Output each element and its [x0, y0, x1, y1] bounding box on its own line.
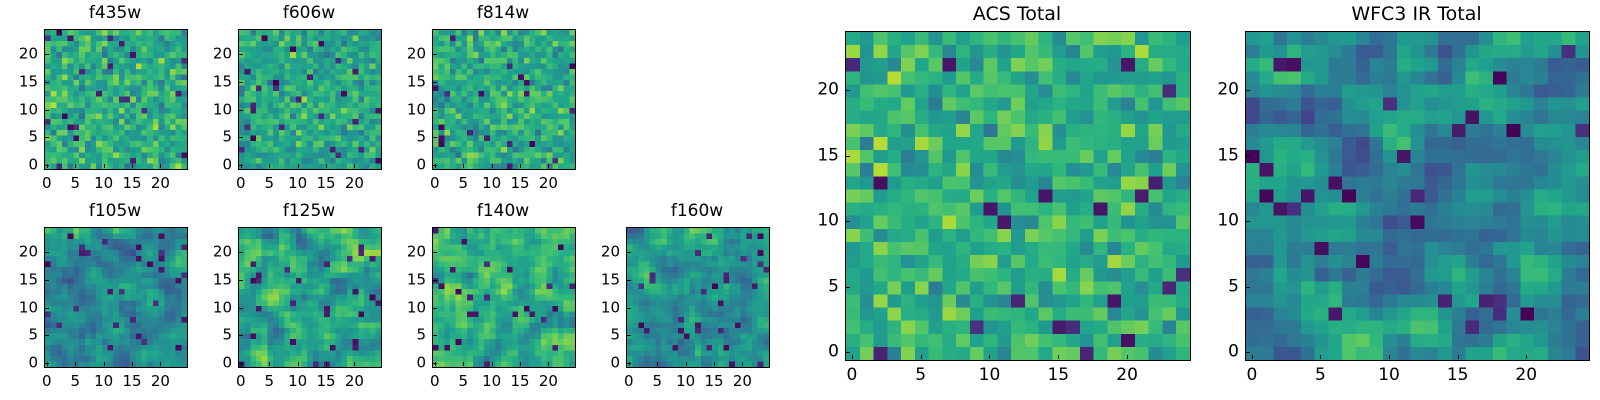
- y-axis-tick-mark: [1246, 90, 1250, 91]
- y-axis-tick-mark: [1246, 156, 1250, 157]
- x-axis-tick-mark: [1252, 355, 1253, 359]
- x-axis-tick-label: 20: [1515, 367, 1537, 384]
- y-axis-tick-mark: [1246, 287, 1250, 288]
- x-axis-tick-label: 15: [1447, 367, 1469, 384]
- y-axis-tick-label: 10: [1197, 213, 1239, 230]
- y-axis-tick-label: 20: [1197, 82, 1239, 99]
- x-axis-tick-mark: [1320, 355, 1321, 359]
- panel-title: WFC3 IR Total: [1245, 5, 1588, 24]
- y-axis-tick-mark: [1246, 221, 1250, 222]
- y-axis-tick-mark: [1246, 352, 1250, 353]
- plot-area: [1245, 31, 1590, 361]
- y-axis-tick-label: 0: [1197, 344, 1239, 361]
- heatmap-panel: WFC3 IR Total0510152005101520: [0, 0, 1600, 400]
- heatmap-image: [1246, 32, 1589, 360]
- x-axis-tick-mark: [1458, 355, 1459, 359]
- x-axis-tick-label: 5: [1315, 367, 1326, 384]
- y-axis-tick-label: 5: [1197, 278, 1239, 295]
- x-axis-tick-label: 0: [1246, 367, 1257, 384]
- y-axis-tick-label: 15: [1197, 147, 1239, 164]
- x-axis-tick-mark: [1389, 355, 1390, 359]
- figure-canvas: f435w0510152005101520f606w05101520051015…: [0, 0, 1600, 400]
- x-axis-tick-label: 10: [1378, 367, 1400, 384]
- x-axis-tick-mark: [1526, 355, 1527, 359]
